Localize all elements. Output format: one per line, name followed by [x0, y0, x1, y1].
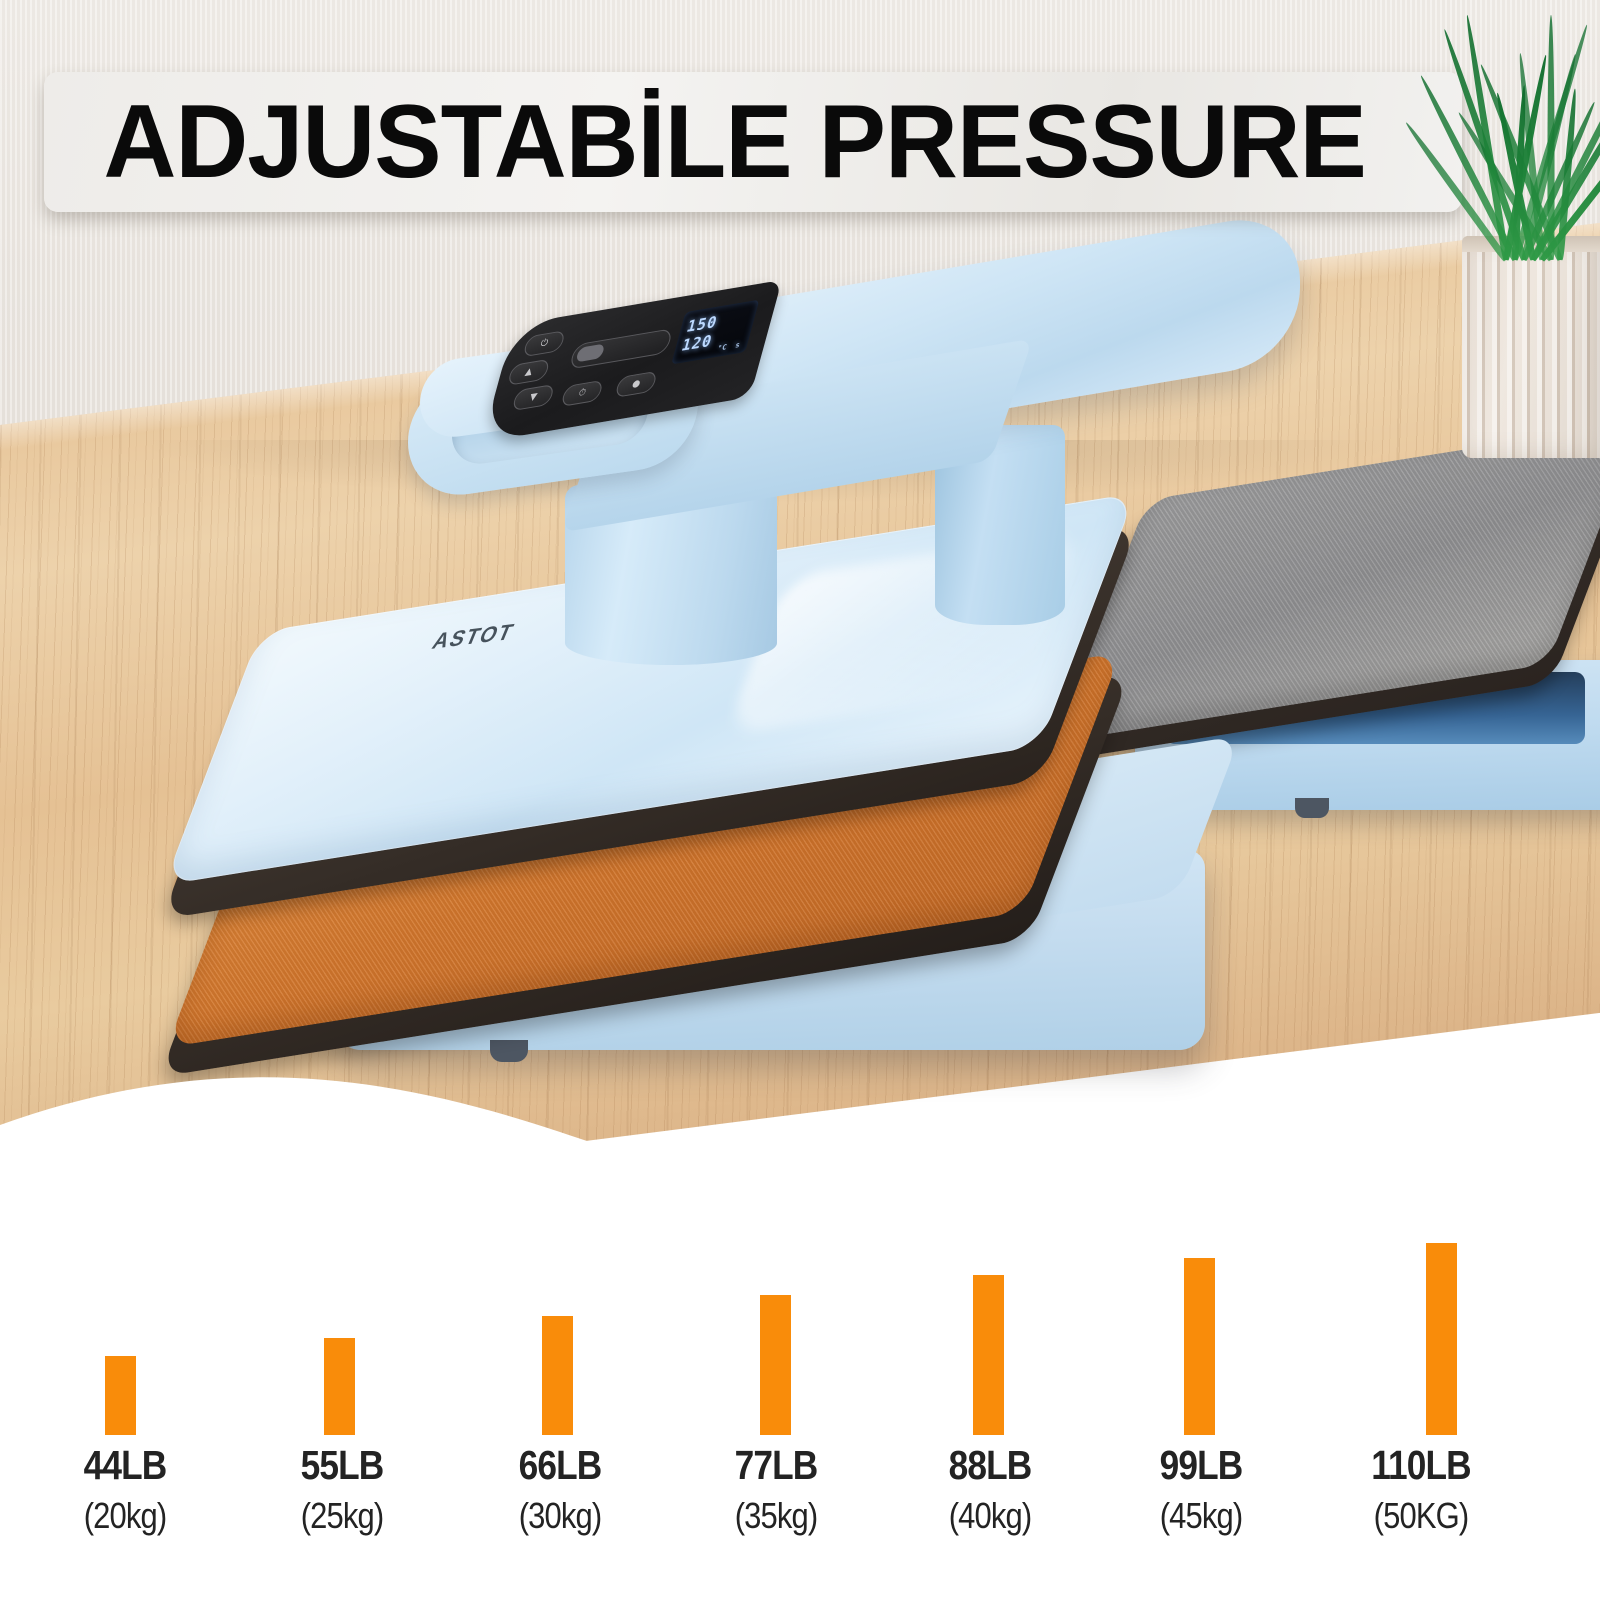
- chevron-up-icon: ▲: [524, 366, 534, 378]
- chart-label-kg: (35kg): [735, 1494, 818, 1537]
- chart-labels: 44LB(20kg)55LB(25kg)66LB(30kg)77LB(35kg)…: [0, 1445, 1600, 1595]
- chart-label-kg: (25kg): [301, 1494, 384, 1537]
- chart-bar: [1184, 1258, 1215, 1435]
- chart-label-group: 110LB(50KG): [1363, 1445, 1479, 1537]
- chart-label-kg: (20kg): [84, 1494, 167, 1537]
- chart-bar: [760, 1295, 791, 1435]
- pressure-slider[interactable]: [569, 328, 674, 370]
- lcd-display: 150 120 °C s: [671, 300, 759, 365]
- plant-leaves: [1450, 0, 1600, 260]
- lcd-unit-left: °C: [716, 343, 728, 353]
- chart-label-kg: (30kg): [519, 1494, 602, 1537]
- heat-press-machine: ASTOT ⏻ ▲ ▼ ⏱: [180, 250, 1260, 1070]
- chart-label-group: 66LB(30kg): [512, 1445, 608, 1537]
- chart-label-kg: (50KG): [1371, 1494, 1471, 1537]
- plant-vase: [1462, 236, 1600, 458]
- plant-leaf: [1463, 15, 1509, 261]
- chart-bar: [105, 1356, 136, 1435]
- chart-label-lb: 88LB: [949, 1445, 1032, 1486]
- timer-icon: ⏱: [577, 388, 587, 400]
- page-title: ADJUSTABİLE PRESSURE: [104, 83, 1366, 202]
- slider-knob[interactable]: [575, 343, 605, 362]
- title-banner: ADJUSTABİLE PRESSURE: [44, 72, 1462, 212]
- pressure-bar-chart: 44LB(20kg)55LB(25kg)66LB(30kg)77LB(35kg)…: [0, 1190, 1600, 1600]
- mode-icon: ●: [631, 378, 642, 390]
- chart-bar: [1426, 1243, 1457, 1435]
- chart-label-lb: 55LB: [301, 1445, 384, 1486]
- chart-bars: [0, 1190, 1600, 1435]
- accessory-foot: [1295, 798, 1329, 818]
- timer-button[interactable]: ⏱: [560, 380, 604, 407]
- chart-label-lb: 66LB: [519, 1445, 602, 1486]
- chart-bar: [324, 1338, 355, 1435]
- temperature-up-button[interactable]: ▲: [507, 359, 551, 386]
- chart-label-lb: 110LB: [1371, 1445, 1471, 1486]
- chart-label-group: 88LB(40kg): [942, 1445, 1038, 1537]
- chart-label-lb: 77LB: [735, 1445, 818, 1486]
- product-marketing-image: ASTOT ⏻ ▲ ▼ ⏱: [0, 0, 1600, 1600]
- power-icon: ⏻: [539, 338, 549, 350]
- chart-label-kg: (40kg): [949, 1494, 1032, 1537]
- chart-label-group: 77LB(35kg): [728, 1445, 824, 1537]
- chart-label-group: 55LB(25kg): [294, 1445, 390, 1537]
- chart-label-lb: 99LB: [1160, 1445, 1243, 1486]
- chart-label-group: 44LB(20kg): [77, 1445, 173, 1537]
- chart-bar: [973, 1275, 1004, 1435]
- mode-button[interactable]: ●: [614, 371, 658, 398]
- lcd-unit-right: s: [734, 341, 741, 350]
- chart-label-group: 99LB(45kg): [1153, 1445, 1249, 1537]
- chart-bar: [542, 1316, 573, 1435]
- power-button[interactable]: ⏻: [522, 330, 566, 357]
- chevron-down-icon: ▼: [528, 392, 538, 404]
- chart-label-lb: 44LB: [84, 1445, 167, 1486]
- chart-label-kg: (45kg): [1160, 1494, 1243, 1537]
- temperature-down-button[interactable]: ▼: [511, 384, 555, 411]
